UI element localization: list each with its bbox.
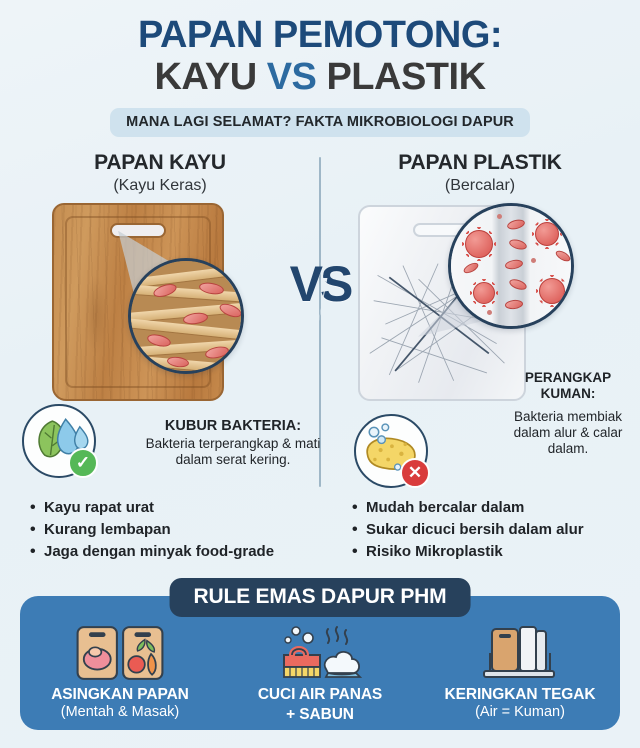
wood-column-subtitle: (Kayu Keras) — [10, 177, 310, 195]
panel-items: ASINGKAN PAPAN (Mentah & Masak) — [20, 622, 620, 722]
page-title-plastik: PLASTIK — [316, 56, 485, 98]
column-header-plastic: PAPAN PLASTIK (Bercalar) — [330, 151, 630, 195]
two-cutting-boards-icon — [25, 622, 215, 684]
header: PAPAN PEMOTONG: KAYU VS PLASTIK MANA LAG… — [0, 0, 640, 137]
virus-icon — [539, 278, 565, 304]
board-handle-hole — [110, 223, 166, 238]
rule-label-line1: CUCI AIR PANAS — [225, 686, 415, 704]
list-item: Kurang lembapan — [30, 519, 274, 541]
rule-sublabel: (Air = Kuman) — [425, 704, 615, 720]
plastic-magnified-view — [448, 203, 574, 329]
list-item: Mudah bercalar dalam — [352, 497, 584, 519]
subtitle-wrap: MANA LAGI SELAMAT? FAKTA MIKROBIOLOGI DA… — [0, 108, 640, 137]
board-drying-rack-icon — [425, 622, 615, 684]
panel-title: RULE EMAS DAPUR PHM — [170, 578, 471, 617]
virus-icon — [535, 222, 559, 246]
column-header-wood: PAPAN KAYU (Kayu Keras) — [10, 151, 310, 195]
page-title-line2: KAYU VS PLASTIK — [0, 57, 640, 99]
wood-benefit-badge: ✓ — [22, 404, 96, 478]
rule-item-separate-boards: ASINGKAN PAPAN (Mentah & Masak) — [25, 622, 215, 720]
plastic-warning-badge: ✕ — [354, 414, 428, 488]
wood-column-title: PAPAN KAYU — [10, 151, 310, 175]
list-item: Kayu rapat urat — [30, 497, 274, 519]
list-item: Risiko Mikroplastik — [352, 541, 584, 563]
page-title-line1: PAPAN PEMOTONG: — [0, 16, 640, 56]
wood-callout: KUBUR BAKTERIA: Bakteria terperangkap & … — [140, 418, 326, 468]
golden-rules-panel: RULE EMAS DAPUR PHM ASINGKAN PAPAN (M — [20, 596, 620, 730]
plastic-callout-title: PERANGKAP KUMAN: — [505, 370, 631, 402]
plastic-callout: PERANGKAP KUMAN: Bakteria membiak dalam … — [505, 370, 631, 457]
rule-item-hot-water-soap: CUCI AIR PANAS + SABUN — [225, 622, 415, 724]
wood-grain-knot — [84, 275, 108, 355]
rule-label: ASINGKAN PAPAN — [25, 686, 215, 704]
plastic-bullet-list: Mudah bercalar dalam Sukar dicuci bersih… — [352, 497, 584, 564]
rule-sublabel: (Mentah & Masak) — [25, 704, 215, 720]
virus-icon — [473, 282, 495, 304]
list-item: Jaga dengan minyak food-grade — [30, 541, 274, 563]
cross-icon: ✕ — [400, 458, 430, 488]
check-icon: ✓ — [68, 448, 98, 478]
page-title-vs: VS — [267, 56, 317, 98]
plastic-column-subtitle: (Bercalar) — [330, 177, 630, 195]
wood-callout-body: Bakteria terperangkap & mati dalam serat… — [140, 436, 326, 468]
page-title-kayu: KAYU — [154, 56, 266, 98]
plastic-column-title: PAPAN PLASTIK — [330, 151, 630, 175]
plastic-callout-body: Bakteria membiak dalam alur & calar dala… — [505, 409, 631, 457]
virus-icon — [465, 230, 493, 258]
vs-divider-badge: VS — [281, 247, 359, 321]
rule-item-dry-upright: KERINGKAN TEGAK (Air = Kuman) — [425, 622, 615, 720]
rule-label: KERINGKAN TEGAK — [425, 686, 615, 704]
list-item: Sukar dicuci bersih dalam alur — [352, 519, 584, 541]
rule-label-line2: + SABUN — [225, 706, 415, 724]
vs-label: VS — [290, 259, 351, 309]
subtitle-banner: MANA LAGI SELAMAT? FAKTA MIKROBIOLOGI DA… — [110, 108, 530, 137]
wood-magnified-view — [128, 258, 244, 374]
brush-soap-water-icon — [225, 622, 415, 684]
wood-callout-title: KUBUR BAKTERIA: — [140, 418, 326, 435]
wood-bullet-list: Kayu rapat urat Kurang lembapan Jaga den… — [30, 497, 274, 564]
